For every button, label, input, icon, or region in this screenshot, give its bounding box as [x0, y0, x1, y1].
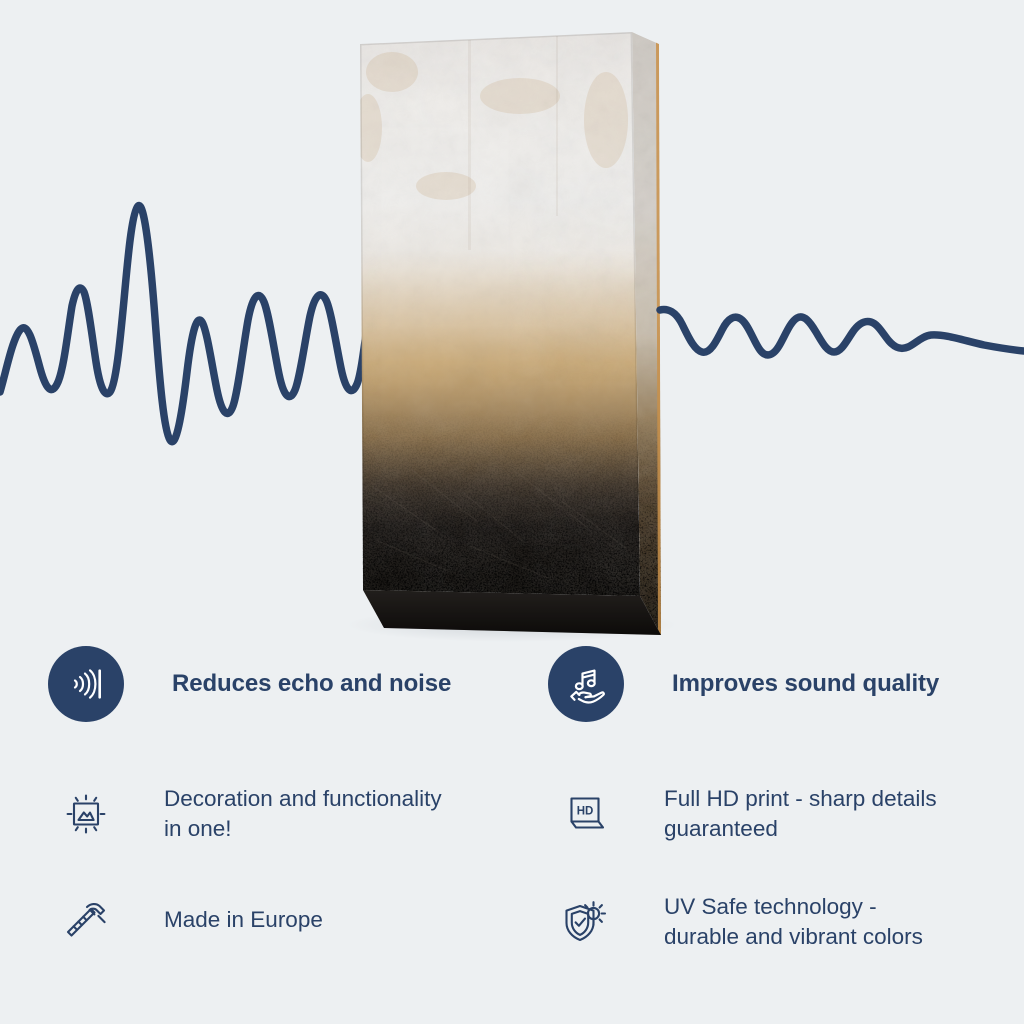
feature-label: Improves sound quality — [672, 669, 939, 699]
hd-print-icon: HD — [558, 786, 614, 842]
feature-improves-sound[interactable]: Improves sound quality — [548, 646, 939, 722]
feature-label: Made in Europe — [164, 905, 323, 935]
feature-reduces-echo[interactable]: Reduces echo and noise — [48, 646, 451, 722]
infographic-stage: Reduces echo and noise — [0, 0, 1024, 1024]
music-note-hand-icon — [548, 646, 624, 722]
feature-full-hd-print[interactable]: HD Full HD print - sharp details guarant… — [558, 784, 937, 843]
framed-picture-shine-icon — [58, 786, 114, 842]
uv-shield-sun-icon — [558, 894, 614, 950]
feature-uv-safe[interactable]: UV Safe technology - durable and vibrant… — [558, 892, 923, 951]
feature-made-in-europe[interactable]: Made in Europe — [58, 892, 323, 948]
feature-label: Decoration and functionality in one! — [164, 784, 442, 843]
feature-label: Reduces echo and noise — [172, 669, 451, 699]
feature-decoration[interactable]: Decoration and functionality in one! — [58, 784, 442, 843]
feature-label: UV Safe technology - durable and vibrant… — [664, 892, 923, 951]
ruler-hammer-icon — [58, 892, 114, 948]
feature-label: Full HD print - sharp details guaranteed — [664, 784, 937, 843]
sound-waves-panel-icon — [48, 646, 124, 722]
feature-column-left: Reduces echo and noise — [48, 636, 548, 1024]
feature-list: Reduces echo and noise — [0, 636, 1024, 1024]
feature-column-right: Improves sound quality HD Full HD print … — [548, 636, 1024, 1024]
hd-badge-text: HD — [577, 805, 594, 817]
